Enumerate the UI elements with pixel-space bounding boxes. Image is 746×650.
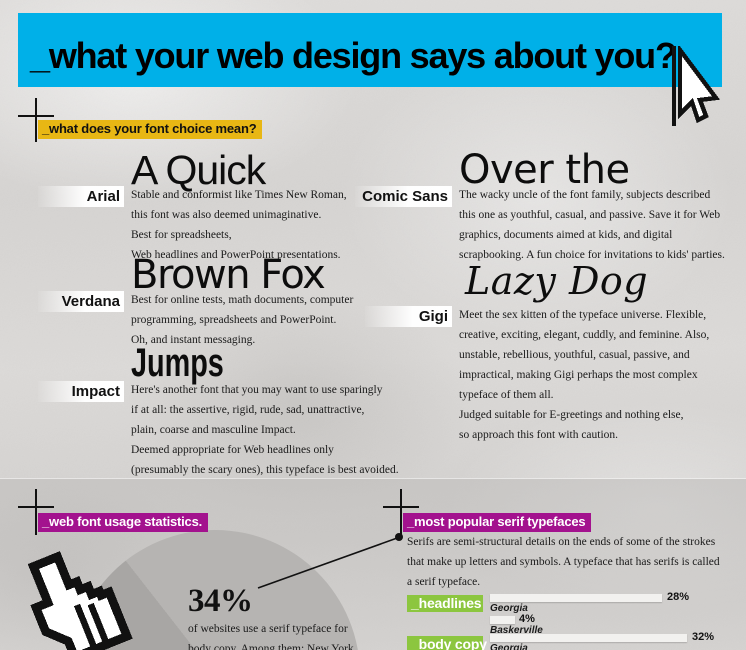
bar-headlines-baskerville (490, 616, 515, 624)
font-desc-comic-line-2: graphics, documents aimed at kids, and d… (459, 226, 672, 246)
font-desc-impact-line-0: Here's another font that you may want to… (131, 381, 383, 401)
arrow-cursor-icon (668, 46, 724, 126)
font-sample-comic-sans: Over the (459, 150, 630, 190)
font-sample-arial: A Quick (131, 150, 265, 191)
font-sample-impact: Jumps (131, 343, 224, 383)
font-desc-verdana-line-0: Best for online tests, math documents, c… (131, 291, 353, 311)
pointing-hand-cursor-icon (12, 540, 142, 650)
font-desc-gigi-line-6: so approach this font with caution. (459, 426, 618, 446)
serif-intro-line-2: a serif typeface. (407, 573, 480, 593)
plus-stem-stats (35, 489, 37, 535)
font-desc-gigi-line-5: Judged suitable for E-greetings and noth… (459, 406, 684, 426)
font-desc-comic-line-0: The wacky uncle of the font family, subj… (459, 186, 710, 206)
bar-headlines-georgia (490, 594, 662, 602)
stat-value-serif-usage: 34% (188, 583, 253, 620)
bar-pct-headlines-georgia: 28% (667, 591, 689, 603)
plus-stem-serif (400, 489, 402, 535)
font-desc-arial-line-1: this font was also deemed unimaginative. (131, 206, 321, 226)
font-name-gigi: Gigi (365, 306, 452, 327)
section-divider (0, 478, 746, 479)
plus-stem-fonts (35, 98, 37, 142)
font-desc-impact-line-2: plain, coarse and masculine Impact. (131, 421, 296, 441)
bar-group-label-headlines: _headlines (407, 595, 483, 612)
bar-body-copy-georgia (490, 634, 687, 642)
serif-intro-line-0: Serifs are semi-structural details on th… (407, 533, 715, 553)
bar-group-label-body-copy: _body copy (407, 636, 483, 650)
font-sample-verdana: Brown Fox (131, 255, 324, 295)
bar-name-body-copy-georgia: Georgia (490, 643, 528, 650)
stat-desc-line-0: of websites use a serif typeface for (188, 620, 348, 640)
font-name-verdana: Verdana (38, 291, 124, 312)
bar-pct-headlines-baskerville: 4% (519, 613, 535, 625)
font-name-arial: Arial (38, 186, 124, 207)
font-desc-gigi-line-3: impractical, making Gigi perhaps the mos… (459, 366, 698, 386)
font-desc-verdana-line-1: programming, spreadsheets and PowerPoint… (131, 311, 336, 331)
font-sample-gigi: Lazy Dog (465, 262, 648, 300)
font-desc-gigi-line-0: Meet the sex kitten of the typeface univ… (459, 306, 706, 326)
stat-desc-line-1: body copy. Among them: New York (188, 640, 354, 650)
font-desc-gigi-line-2: unstable, rebellious, youthful, casual, … (459, 346, 690, 366)
section-tag-serif-typefaces: _most popular serif typefaces (403, 513, 591, 532)
font-desc-gigi-line-4: typeface of them all. (459, 386, 554, 406)
infographic-page: _what your web design says about you? _w… (0, 0, 746, 650)
section-tag-usage-stats: _web font usage statistics. (38, 513, 208, 532)
font-desc-arial-line-2: Best for spreadsheets, (131, 226, 232, 246)
bar-pct-body-copy-georgia: 32% (692, 631, 714, 643)
font-desc-comic-line-1: this one as youthful, casual, and passiv… (459, 206, 720, 226)
font-desc-arial-line-0: Stable and conformist like Times New Rom… (131, 186, 347, 206)
page-title: _what your web design says about you? (30, 35, 676, 77)
font-name-impact: Impact (38, 381, 124, 402)
section-tag-font-choice: _what does your font choice mean? (38, 120, 262, 139)
font-desc-impact-line-3: Deemed appropriate for Web headlines onl… (131, 441, 334, 461)
serif-intro-line-1: that make up letters and symbols. A type… (407, 553, 720, 573)
font-desc-impact-line-1: if at all: the assertive, rigid, rude, s… (131, 401, 364, 421)
font-desc-gigi-line-1: creative, exciting, elegant, cuddly, and… (459, 326, 709, 346)
font-name-comic-sans: Comic Sans (355, 186, 452, 207)
